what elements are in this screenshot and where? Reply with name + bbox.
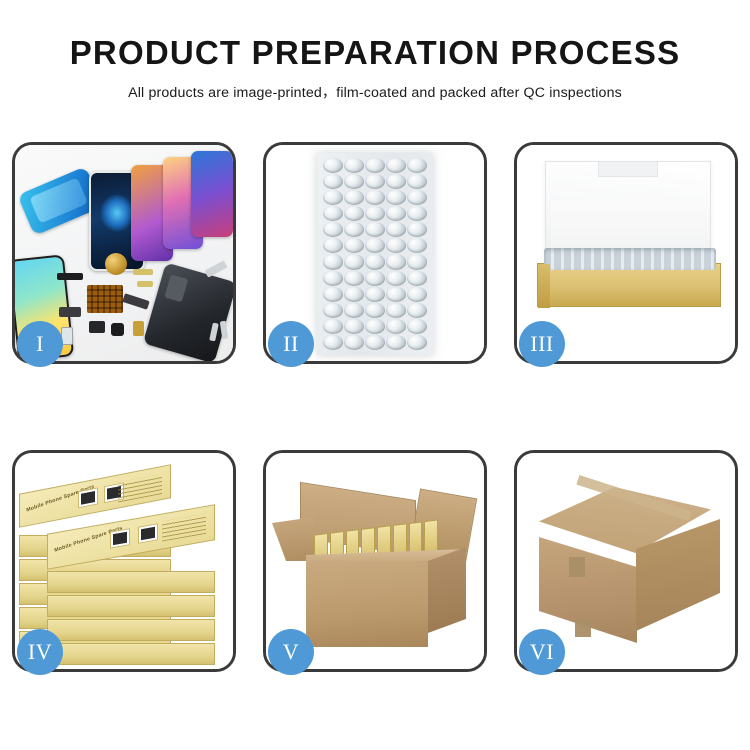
box-window-preview bbox=[78, 487, 98, 508]
carton-side-panel bbox=[428, 547, 466, 633]
step-panel-2: II bbox=[263, 142, 487, 364]
tape-tab bbox=[575, 619, 591, 637]
step-badge-2: II bbox=[268, 321, 314, 367]
stacked-box bbox=[47, 571, 215, 593]
kraft-box-tray bbox=[537, 263, 721, 307]
step-badge-1: I bbox=[17, 321, 63, 367]
flex-cable-part bbox=[133, 269, 153, 275]
speaker-part bbox=[57, 273, 83, 280]
bubble-grid bbox=[323, 158, 427, 350]
stacked-box bbox=[47, 595, 215, 617]
step-badge-3: III bbox=[519, 321, 565, 367]
carton-front-panel bbox=[306, 561, 428, 647]
page-subtitle: All products are image-printed，film-coat… bbox=[0, 82, 750, 102]
step-badge-4: IV bbox=[17, 629, 63, 675]
battery-connector-part bbox=[133, 321, 144, 336]
box-spec-lines bbox=[118, 474, 162, 503]
step-panel-5: V bbox=[263, 450, 487, 672]
box-window-preview bbox=[110, 528, 130, 549]
process-steps-grid: I II bbox=[12, 142, 738, 672]
carton-left-flap bbox=[272, 517, 314, 561]
page-header: PRODUCT PREPARATION PROCESS All products… bbox=[0, 0, 750, 102]
stacked-box bbox=[47, 643, 215, 665]
phone-display-blue bbox=[191, 151, 233, 237]
step-badge-5: V bbox=[268, 629, 314, 675]
connector-part bbox=[59, 307, 81, 317]
step-badge-6: VI bbox=[519, 629, 565, 675]
step-panel-6: VI bbox=[514, 450, 738, 672]
ic-chip-part bbox=[111, 323, 124, 336]
tape-tab bbox=[569, 557, 585, 577]
page-title: PRODUCT PREPARATION PROCESS bbox=[0, 36, 750, 71]
step-panel-1: I bbox=[12, 142, 236, 364]
ribbon-cable-part bbox=[122, 293, 150, 310]
phone-back-housing bbox=[143, 262, 233, 361]
camera-module-part bbox=[89, 321, 105, 333]
tweezers-part bbox=[204, 260, 227, 277]
screwdriver-part bbox=[220, 321, 228, 340]
step-panel-3: III bbox=[514, 142, 738, 364]
flex-cable-part bbox=[137, 281, 153, 287]
step-panel-4: Mobile Phone Spare Parts Mobile Phone Sp… bbox=[12, 450, 236, 672]
box-spec-lines bbox=[162, 514, 206, 542]
stacked-box bbox=[47, 619, 215, 641]
bubble-wrap-sheet bbox=[317, 153, 433, 355]
vibration-motor-part bbox=[105, 253, 127, 275]
box-window-preview bbox=[138, 523, 158, 544]
chip-array-part bbox=[87, 285, 123, 313]
